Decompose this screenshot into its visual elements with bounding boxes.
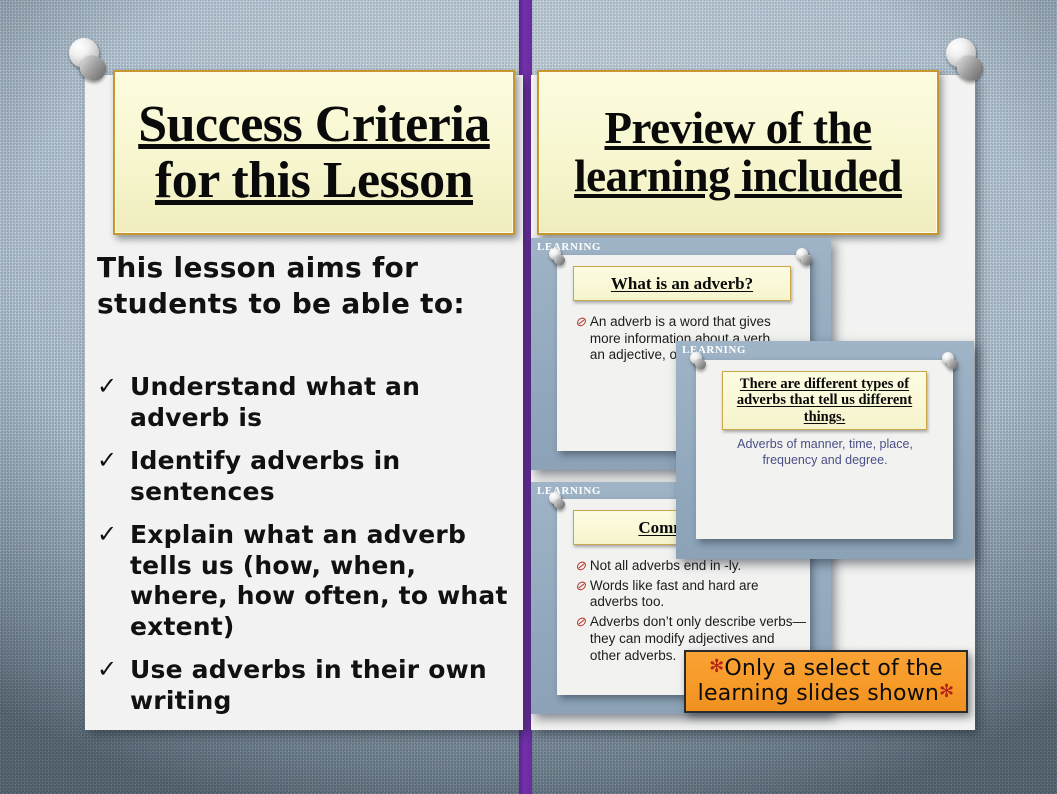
left-panel-title: Success Criteria for this Lesson <box>115 97 513 207</box>
success-criteria-list: ✓ Understand what an adverb is ✓ Identif… <box>97 372 517 729</box>
slide-heading: There are different types of adverbs tha… <box>723 376 926 425</box>
list-item-label: Understand what an adverb is <box>130 372 517 433</box>
preview-slide-types-of-adverbs[interactable]: LEARNING There are different types of ad… <box>676 341 974 559</box>
check-icon: ✓ <box>97 520 117 549</box>
list-item: ⊘ Not all adverbs end in -ly. <box>575 558 807 575</box>
asterisk-icon: ✻ <box>939 681 954 702</box>
list-item-label: Identify adverbs in sentences <box>130 446 517 507</box>
list-item-label: Not all adverbs end in -ly. <box>590 558 741 575</box>
list-item: ✓ Use adverbs in their own writing <box>97 655 517 716</box>
list-item-label: Explain what an adverb tells us (how, wh… <box>130 520 517 642</box>
slide-heading-plaque: What is an adverb? <box>573 266 791 301</box>
slide-label: LEARNING <box>537 485 601 497</box>
right-panel-title: Preview of the learning included <box>539 105 937 200</box>
list-item-label: Words like fast and hard are adverbs too… <box>590 578 807 611</box>
check-icon: ✓ <box>97 655 117 684</box>
list-item: ✓ Explain what an adverb tells us (how, … <box>97 520 517 642</box>
slide-subtitle: Adverbs of manner, time, place, frequenc… <box>716 436 934 469</box>
callout-note: ✻Only a select of the learning slides sh… <box>684 650 968 713</box>
slash-circle-icon: ⊘ <box>575 558 586 574</box>
lesson-aims-lead-text: This lesson aims for students to be able… <box>97 250 497 322</box>
list-item: ⊘ Words like fast and hard are adverbs t… <box>575 578 807 611</box>
slash-circle-icon: ⊘ <box>575 614 586 630</box>
right-panel-title-plaque: Preview of the learning included <box>537 70 939 235</box>
asterisk-icon: ✻ <box>709 656 724 677</box>
list-item: ✓ Identify adverbs in sentences <box>97 446 517 507</box>
slide-heading: What is an adverb? <box>611 274 753 293</box>
list-item-label: Use adverbs in their own writing <box>130 655 517 716</box>
slide-heading-plaque: There are different types of adverbs tha… <box>722 371 927 430</box>
slash-circle-icon: ⊘ <box>575 578 586 594</box>
callout-line-1: Only a select of the <box>724 656 943 681</box>
callout-line-2: learning slides shown <box>698 681 939 706</box>
list-item: ✓ Understand what an adverb is <box>97 372 517 433</box>
left-panel-title-plaque: Success Criteria for this Lesson <box>113 70 515 235</box>
check-icon: ✓ <box>97 372 117 401</box>
slide-label: LEARNING <box>682 344 746 356</box>
check-icon: ✓ <box>97 446 117 475</box>
callout-text: ✻Only a select of the learning slides sh… <box>698 657 955 707</box>
slash-circle-icon: ⊘ <box>575 314 586 330</box>
slide-label: LEARNING <box>537 241 601 253</box>
